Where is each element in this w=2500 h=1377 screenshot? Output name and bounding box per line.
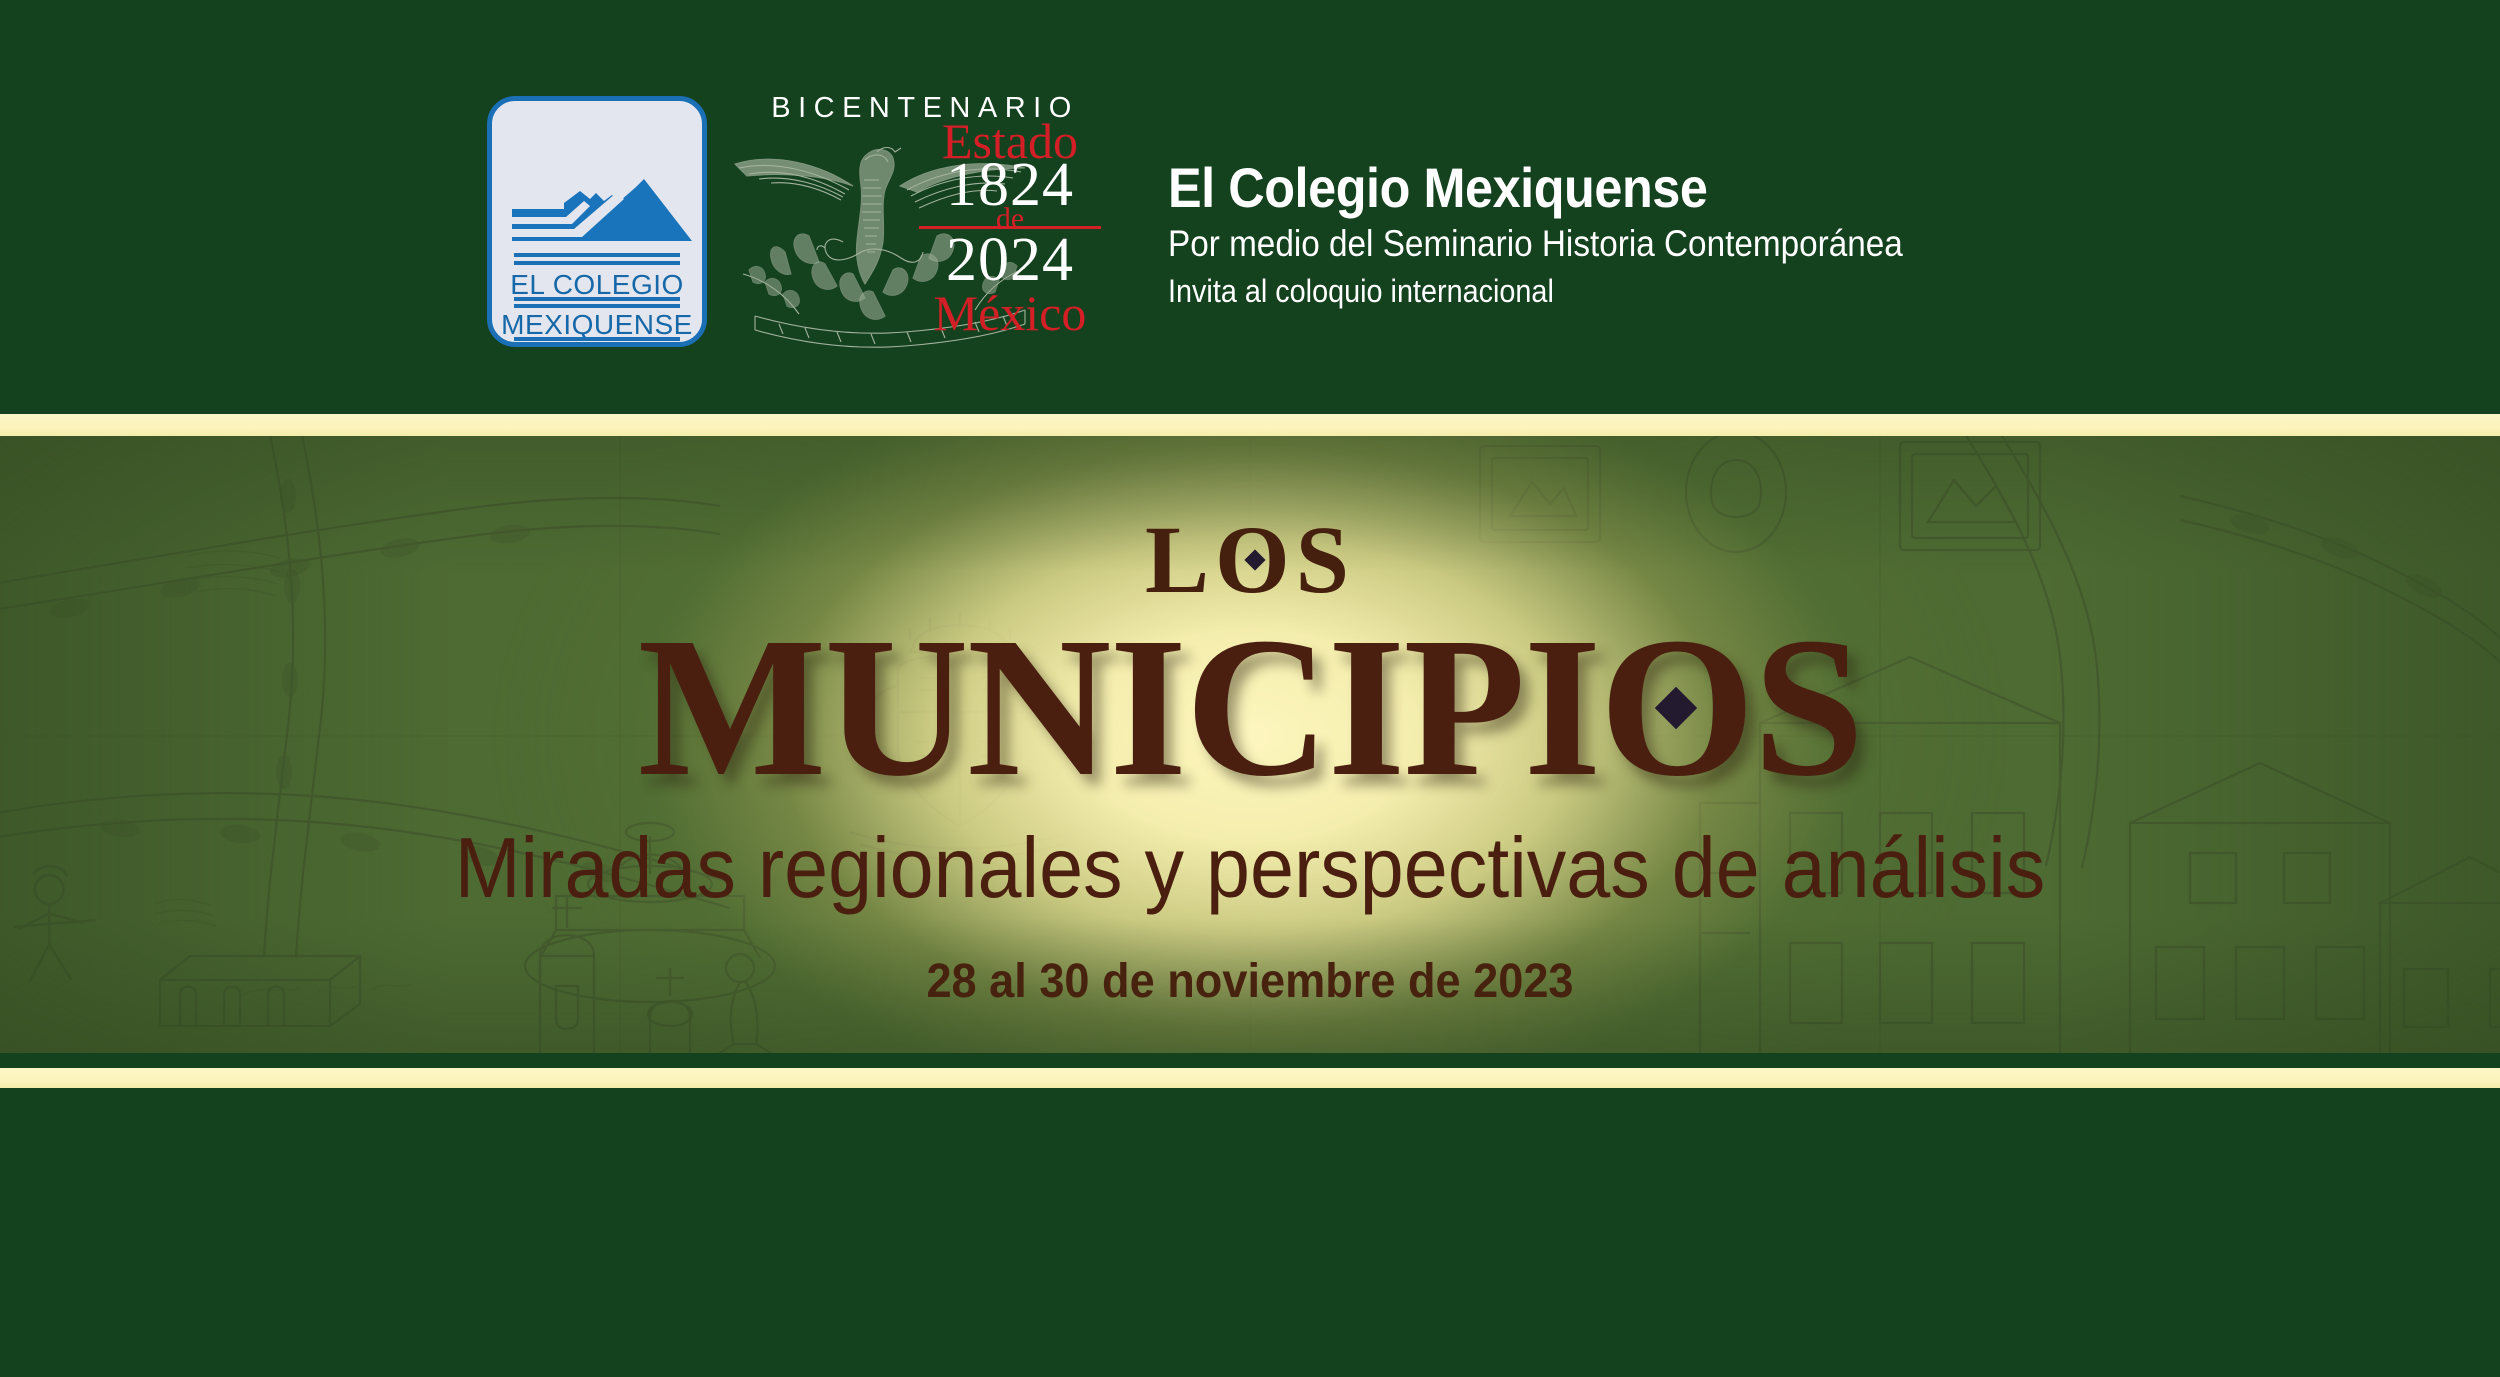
diamond-ornament-icon — [1245, 549, 1266, 570]
institution-text-block: El Colegio Mexiquense Por medio del Semi… — [1168, 158, 1984, 310]
mountain-logo-icon — [512, 179, 692, 245]
anniv-mexico-text: México — [905, 288, 1115, 338]
institution-title: El Colegio Mexiquense — [1168, 158, 1903, 217]
title-main: MUNICIPIOS — [0, 608, 2500, 808]
main-banner: LOS MUNICIPIOS Miradas regionales y pers… — [0, 436, 2500, 1053]
event-date: 28 al 30 de noviembre de 2023 — [75, 958, 2425, 1006]
header-band: EL COLEGIO MEXIQUENSE a.c. BICENTENARIO — [0, 0, 2500, 414]
bottom-cream-divider — [0, 1068, 2500, 1088]
event-date-text: 28 al 30 de noviembre de 2023 — [926, 955, 1573, 1008]
institution-invitation: Invita al coloquio internacional — [1168, 273, 1903, 310]
logo-divider-3 — [514, 297, 680, 301]
poster-root: EL COLEGIO MEXIQUENSE a.c. BICENTENARIO — [0, 0, 2500, 1377]
title-main-part-2: S — [1753, 597, 1862, 818]
anniv-year-to: 2024 — [905, 229, 1115, 291]
bottom-green-rule — [0, 1053, 2500, 1068]
colegio-mexiquense-logo: EL COLEGIO MEXIQUENSE a.c. — [487, 96, 707, 347]
title-o-glyph: O — [1599, 608, 1753, 808]
title-subtitle: Miradas regionales y perspectivas de aná… — [88, 826, 2413, 911]
anniversary-stack: Estado 1824 de 2024 México — [905, 116, 1115, 346]
institution-subtitle: Por medio del Seminario Historia Contemp… — [1168, 223, 1903, 266]
logo-divider-5 — [514, 337, 680, 341]
title-stack: LOS MUNICIPIOS Miradas regionales y pers… — [0, 436, 2500, 1053]
diamond-ornament-icon — [1655, 687, 1697, 729]
logo-divider-4 — [514, 304, 680, 308]
logo-divider-1 — [514, 253, 680, 257]
top-cream-divider — [0, 414, 2500, 436]
eyebrow-o-glyph: O — [1215, 512, 1296, 608]
logo-divider-6 — [514, 344, 680, 347]
logo-divider-2 — [514, 261, 680, 265]
logo-inner: EL COLEGIO MEXIQUENSE a.c. — [492, 101, 702, 342]
bicentenario-block: BICENTENARIO — [735, 92, 1115, 352]
title-subtitle-text: Miradas regionales y perspectivas de aná… — [455, 821, 2046, 916]
title-eyebrow: LOS — [0, 512, 2500, 608]
title-main-part-1: MUNICIPI — [638, 597, 1600, 818]
footer-band — [0, 1088, 2500, 1377]
